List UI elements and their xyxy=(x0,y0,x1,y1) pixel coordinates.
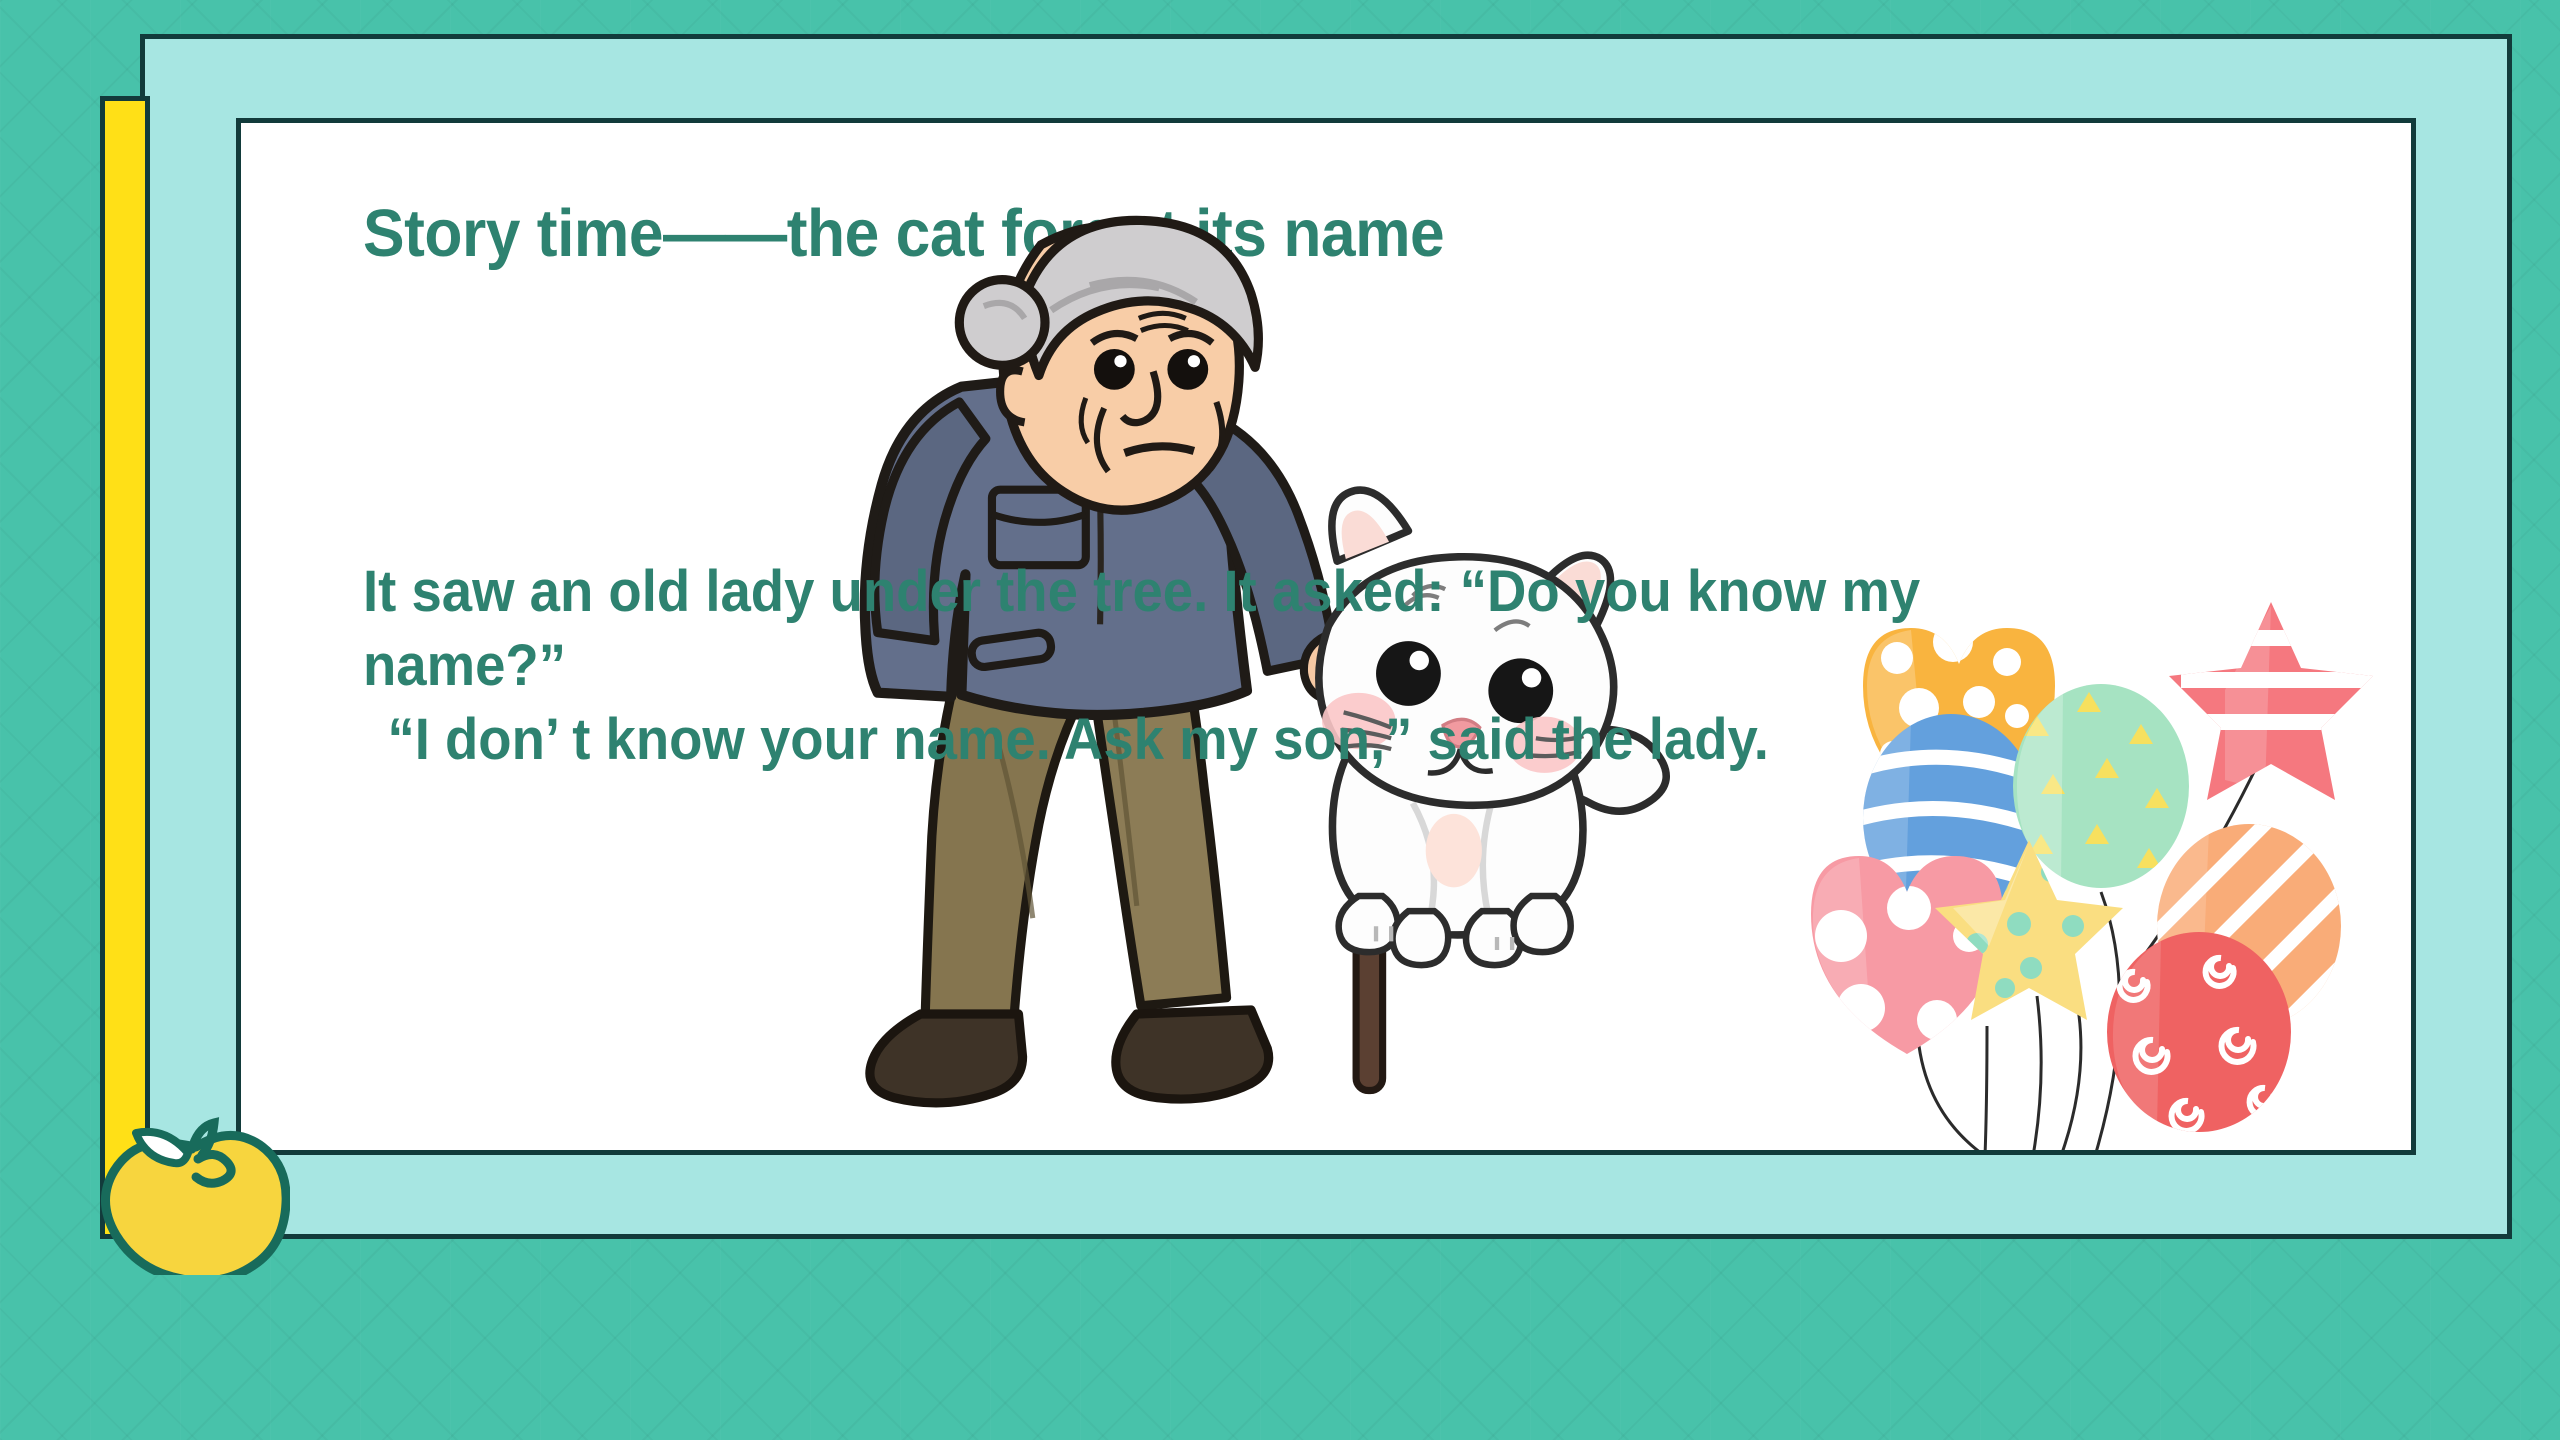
balloon-pink-star-stripes xyxy=(2169,602,2391,800)
page-title: Story time——the cat forgot its name xyxy=(363,195,1444,272)
lady-shoes xyxy=(870,1010,1269,1103)
yellow-accent-strip xyxy=(100,96,150,1239)
balloon-red-swirls xyxy=(2107,932,2291,1132)
balloon-cluster-icon xyxy=(1801,596,2416,1155)
slide-content-card: Story time——the cat forgot its name xyxy=(236,118,2416,1155)
balloon-green-triangles xyxy=(2013,684,2189,888)
apple-icon xyxy=(100,1105,290,1275)
cat-paws xyxy=(1339,896,1571,965)
slide-canvas: Story time——the cat forgot its name xyxy=(0,0,2560,1440)
